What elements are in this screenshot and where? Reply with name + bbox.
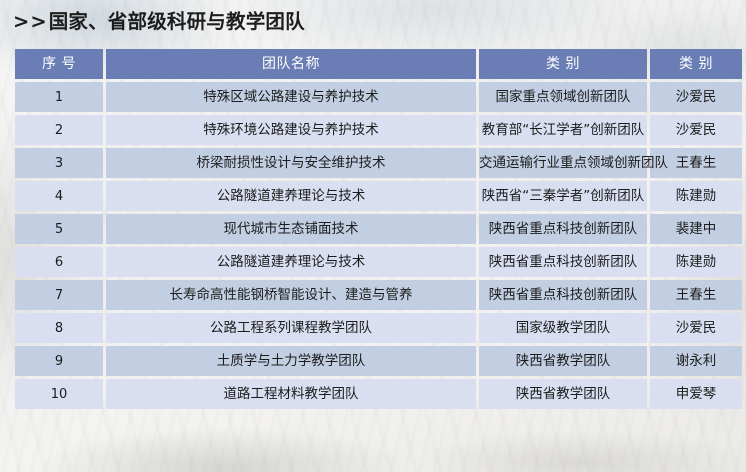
table-header: 序 号 团队名称 类 别 类 别 xyxy=(15,49,742,79)
cell-category: 教育部“长江学者”创新团队 xyxy=(479,115,647,145)
page-title: >>国家、省部级科研与教学团队 xyxy=(0,0,746,35)
cell-index: 4 xyxy=(15,181,103,211)
table-row[interactable]: 5 现代城市生态铺面技术 陕西省重点科技创新团队 裴建中 xyxy=(15,214,742,244)
team-table-container: 序 号 团队名称 类 别 类 别 1 特殊区域公路建设与养护技术 国家重点领域创… xyxy=(12,46,733,412)
column-header-index[interactable]: 序 号 xyxy=(15,49,103,79)
cell-leader: 陈建勋 xyxy=(650,247,742,277)
cell-name: 土质学与土力学教学团队 xyxy=(106,346,476,376)
cell-name: 公路工程系列课程教学团队 xyxy=(106,313,476,343)
cell-index: 1 xyxy=(15,82,103,112)
team-table: 序 号 团队名称 类 别 类 别 1 特殊区域公路建设与养护技术 国家重点领域创… xyxy=(12,46,745,412)
table-row[interactable]: 3 桥梁耐损性设计与安全维护技术 交通运输行业重点领域创新团队 王春生 xyxy=(15,148,742,178)
cell-leader: 申爱琴 xyxy=(650,379,742,409)
cell-index: 8 xyxy=(15,313,103,343)
table-row[interactable]: 7 长寿命高性能钢桥智能设计、建造与管养 陕西省重点科技创新团队 王春生 xyxy=(15,280,742,310)
cell-index: 3 xyxy=(15,148,103,178)
table-row[interactable]: 6 公路隧道建养理论与技术 陕西省重点科技创新团队 陈建勋 xyxy=(15,247,742,277)
cell-leader: 谢永利 xyxy=(650,346,742,376)
cell-category: 陕西省重点科技创新团队 xyxy=(479,247,647,277)
cell-index: 5 xyxy=(15,214,103,244)
cell-name: 特殊环境公路建设与养护技术 xyxy=(106,115,476,145)
cell-leader: 沙爱民 xyxy=(650,313,742,343)
cell-name: 公路隧道建养理论与技术 xyxy=(106,181,476,211)
cell-category: 陕西省重点科技创新团队 xyxy=(479,214,647,244)
column-header-name[interactable]: 团队名称 xyxy=(106,49,476,79)
cell-category: 陕西省重点科技创新团队 xyxy=(479,280,647,310)
cell-index: 9 xyxy=(15,346,103,376)
cell-index: 2 xyxy=(15,115,103,145)
cell-category: 国家重点领域创新团队 xyxy=(479,82,647,112)
table-row[interactable]: 2 特殊环境公路建设与养护技术 教育部“长江学者”创新团队 沙爱民 xyxy=(15,115,742,145)
title-arrows: >> xyxy=(13,10,48,33)
cell-category: 交通运输行业重点领域创新团队 xyxy=(479,148,647,178)
table-row[interactable]: 8 公路工程系列课程教学团队 国家级教学团队 沙爱民 xyxy=(15,313,742,343)
cell-category: 陕西省教学团队 xyxy=(479,346,647,376)
cell-leader: 裴建中 xyxy=(650,214,742,244)
cell-category: 陕西省教学团队 xyxy=(479,379,647,409)
cell-name: 桥梁耐损性设计与安全维护技术 xyxy=(106,148,476,178)
table-header-row: 序 号 团队名称 类 别 类 别 xyxy=(15,49,742,79)
cell-leader: 沙爱民 xyxy=(650,115,742,145)
table-body: 1 特殊区域公路建设与养护技术 国家重点领域创新团队 沙爱民 2 特殊环境公路建… xyxy=(15,82,742,409)
column-header-leader[interactable]: 类 别 xyxy=(650,49,742,79)
cell-name: 长寿命高性能钢桥智能设计、建造与管养 xyxy=(106,280,476,310)
cell-name: 公路隧道建养理论与技术 xyxy=(106,247,476,277)
cell-index: 6 xyxy=(15,247,103,277)
cell-name: 特殊区域公路建设与养护技术 xyxy=(106,82,476,112)
table-row[interactable]: 1 特殊区域公路建设与养护技术 国家重点领域创新团队 沙爱民 xyxy=(15,82,742,112)
page-title-text: 国家、省部级科研与教学团队 xyxy=(49,10,305,33)
cell-name: 道路工程材料教学团队 xyxy=(106,379,476,409)
cell-category: 国家级教学团队 xyxy=(479,313,647,343)
cell-leader: 沙爱民 xyxy=(650,82,742,112)
cell-name: 现代城市生态铺面技术 xyxy=(106,214,476,244)
cell-category: 陕西省“三秦学者”创新团队 xyxy=(479,181,647,211)
cell-index: 7 xyxy=(15,280,103,310)
table-row[interactable]: 9 土质学与土力学教学团队 陕西省教学团队 谢永利 xyxy=(15,346,742,376)
cell-index: 10 xyxy=(15,379,103,409)
cell-leader: 王春生 xyxy=(650,280,742,310)
table-row[interactable]: 4 公路隧道建养理论与技术 陕西省“三秦学者”创新团队 陈建勋 xyxy=(15,181,742,211)
cell-leader: 陈建勋 xyxy=(650,181,742,211)
column-header-category[interactable]: 类 别 xyxy=(479,49,647,79)
page-root: >>国家、省部级科研与教学团队 序 号 团队名称 类 别 类 别 1 xyxy=(0,0,746,472)
table-row[interactable]: 10 道路工程材料教学团队 陕西省教学团队 申爱琴 xyxy=(15,379,742,409)
